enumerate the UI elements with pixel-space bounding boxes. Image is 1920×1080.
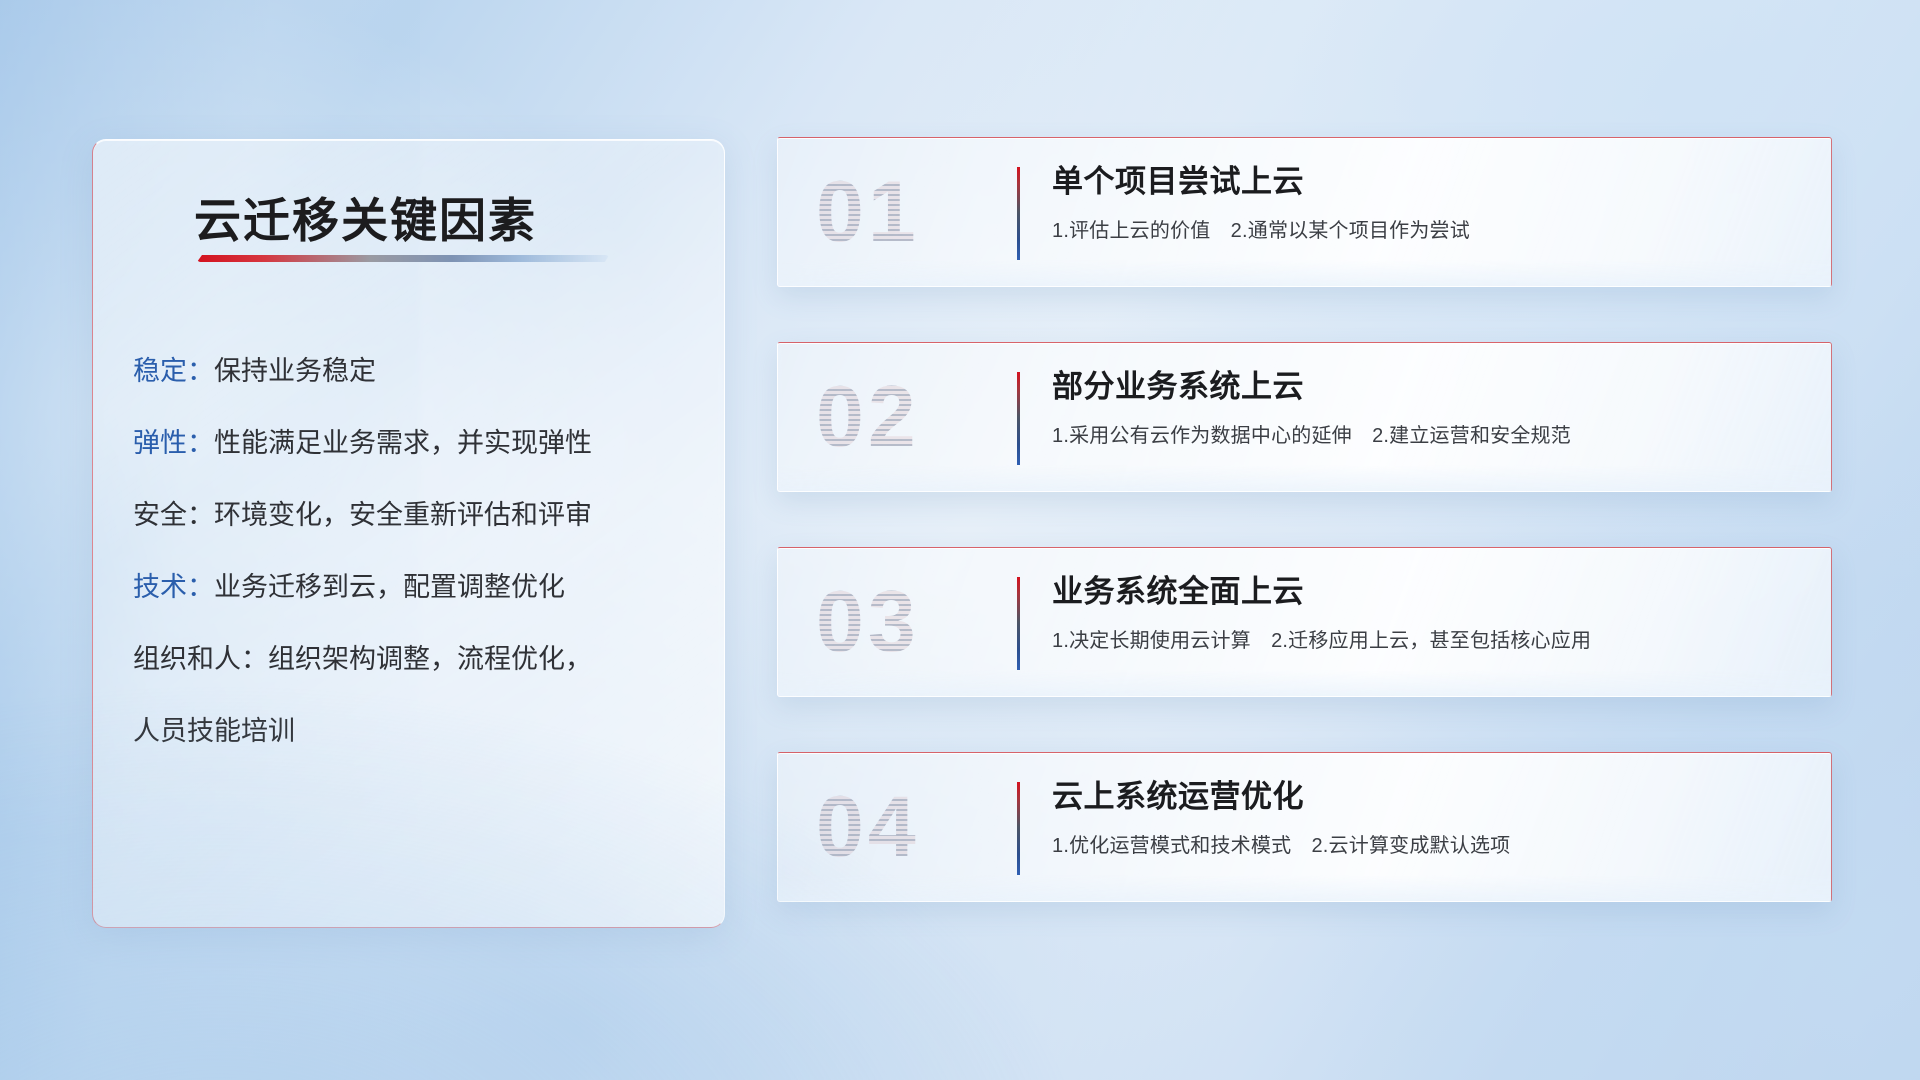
factor-label: 安全： — [133, 500, 214, 530]
page-title: 云迁移关键因素 — [194, 182, 537, 251]
stage-subtitle: 1.决定长期使用云计算 2.迁移应用上云，甚至包括核心应用 — [1052, 624, 1807, 653]
slide-canvas: 云迁移关键因素 稳定：保持业务稳定 弹性：性能满足业务需求，并实现弹性 安全：环… — [0, 0, 1920, 1080]
factor-label: 弹性： — [133, 428, 214, 458]
factor-item-elasticity: 弹性：性能满足业务需求，并实现弹性 — [133, 430, 694, 457]
stage-card-list: 01 01 单个项目尝试上云 1.评估上云的价值 2.通常以某个项目作为尝试 0… — [777, 137, 1832, 902]
factor-text: 环境变化，安全重新评估和评审 — [214, 500, 592, 530]
stage-number: 04 — [816, 784, 920, 870]
stage-title: 部分业务系统上云 — [1052, 369, 1807, 406]
stage-divider-bar — [1017, 167, 1020, 260]
factor-label: 技术： — [133, 572, 214, 602]
stage-subtitle: 1.优化运营模式和技术模式 2.云计算变成默认选项 — [1052, 829, 1807, 858]
factor-text: 人员技能培训 — [133, 716, 295, 746]
stage-divider-bar — [1017, 577, 1020, 670]
stage-number: 03 — [816, 579, 920, 665]
factor-item-stability: 稳定：保持业务稳定 — [133, 358, 694, 385]
stage-body: 云上系统运营优化 1.优化运营模式和技术模式 2.云计算变成默认选项 — [1052, 779, 1807, 858]
factor-label: 组织和人： — [133, 644, 268, 674]
key-factors-panel: 云迁移关键因素 稳定：保持业务稳定 弹性：性能满足业务需求，并实现弹性 安全：环… — [92, 139, 725, 928]
factor-list: 稳定：保持业务稳定 弹性：性能满足业务需求，并实现弹性 安全：环境变化，安全重新… — [133, 358, 694, 745]
factor-text: 业务迁移到云，配置调整优化 — [214, 572, 565, 602]
stage-number: 02 — [816, 374, 920, 460]
factor-text: 保持业务稳定 — [214, 356, 376, 386]
stage-title: 单个项目尝试上云 — [1052, 164, 1807, 201]
factor-text: 性能满足业务需求，并实现弹性 — [214, 428, 592, 458]
stage-body: 业务系统全面上云 1.决定长期使用云计算 2.迁移应用上云，甚至包括核心应用 — [1052, 574, 1807, 653]
factor-label: 稳定： — [133, 356, 214, 386]
factor-text: 组织架构调整，流程优化， — [268, 644, 592, 674]
stage-card-03[interactable]: 03 03 业务系统全面上云 1.决定长期使用云计算 2.迁移应用上云，甚至包括… — [777, 547, 1832, 697]
stage-title: 业务系统全面上云 — [1052, 574, 1807, 611]
stage-subtitle: 1.采用公有云作为数据中心的延伸 2.建立运营和安全规范 — [1052, 419, 1807, 448]
stage-card-04[interactable]: 04 04 云上系统运营优化 1.优化运营模式和技术模式 2.云计算变成默认选项 — [777, 752, 1832, 902]
stage-card-02[interactable]: 02 02 部分业务系统上云 1.采用公有云作为数据中心的延伸 2.建立运营和安… — [777, 342, 1832, 492]
stage-subtitle: 1.评估上云的价值 2.通常以某个项目作为尝试 — [1052, 214, 1807, 243]
factor-item-organization: 组织和人：组织架构调整，流程优化， — [133, 646, 694, 673]
factor-item-organization-cont: 人员技能培训 — [133, 718, 694, 745]
factor-item-security: 安全：环境变化，安全重新评估和评审 — [133, 502, 694, 529]
factor-item-technology: 技术：业务迁移到云，配置调整优化 — [133, 574, 694, 601]
title-underline-rule — [197, 255, 609, 262]
stage-divider-bar — [1017, 782, 1020, 875]
stage-body: 部分业务系统上云 1.采用公有云作为数据中心的延伸 2.建立运营和安全规范 — [1052, 369, 1807, 448]
stage-divider-bar — [1017, 372, 1020, 465]
stage-body: 单个项目尝试上云 1.评估上云的价值 2.通常以某个项目作为尝试 — [1052, 164, 1807, 243]
stage-title: 云上系统运营优化 — [1052, 779, 1807, 816]
stage-number: 01 — [816, 169, 920, 255]
stage-card-01[interactable]: 01 01 单个项目尝试上云 1.评估上云的价值 2.通常以某个项目作为尝试 — [777, 137, 1832, 287]
